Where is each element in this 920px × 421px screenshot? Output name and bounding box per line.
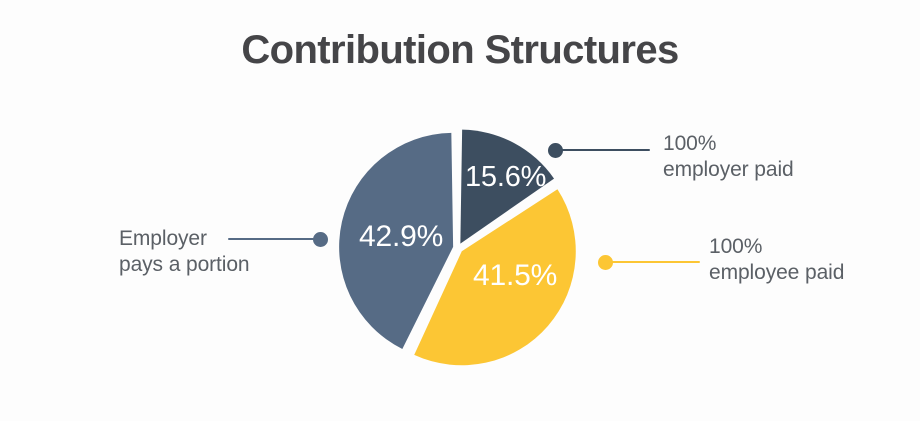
callout-label-line-1: 100% — [663, 131, 794, 157]
callout-label-employee-paid: 100% employee paid — [709, 234, 844, 287]
callout-label-line-1: 100% — [709, 234, 844, 260]
callout-label-employer-paid: 100% employer paid — [663, 131, 794, 184]
leader-dot-employee-paid[interactable] — [598, 255, 613, 270]
pie-slice-value-employee-paid: 41.5% — [473, 261, 557, 291]
callout-label-line-2: employer paid — [663, 157, 794, 183]
callout-label-line-1: Employer — [119, 226, 250, 252]
pie-slice-value-employer-portion: 42.9% — [359, 222, 443, 252]
callout-label-line-2: pays a portion — [119, 252, 250, 278]
callout-label-line-2: employee paid — [709, 260, 844, 286]
chart-canvas: Contribution Structures 15.6% 41.5% 42.9… — [0, 0, 920, 421]
callout-label-employer-portion: Employer pays a portion — [119, 226, 250, 279]
pie-chart — [0, 0, 920, 421]
leader-line-employer-paid — [558, 149, 650, 151]
leader-line-employee-paid — [608, 261, 700, 263]
leader-dot-employer-portion[interactable] — [313, 232, 328, 247]
leader-dot-employer-paid[interactable] — [548, 143, 563, 158]
pie-slice-value-employer-paid: 15.6% — [465, 163, 546, 192]
